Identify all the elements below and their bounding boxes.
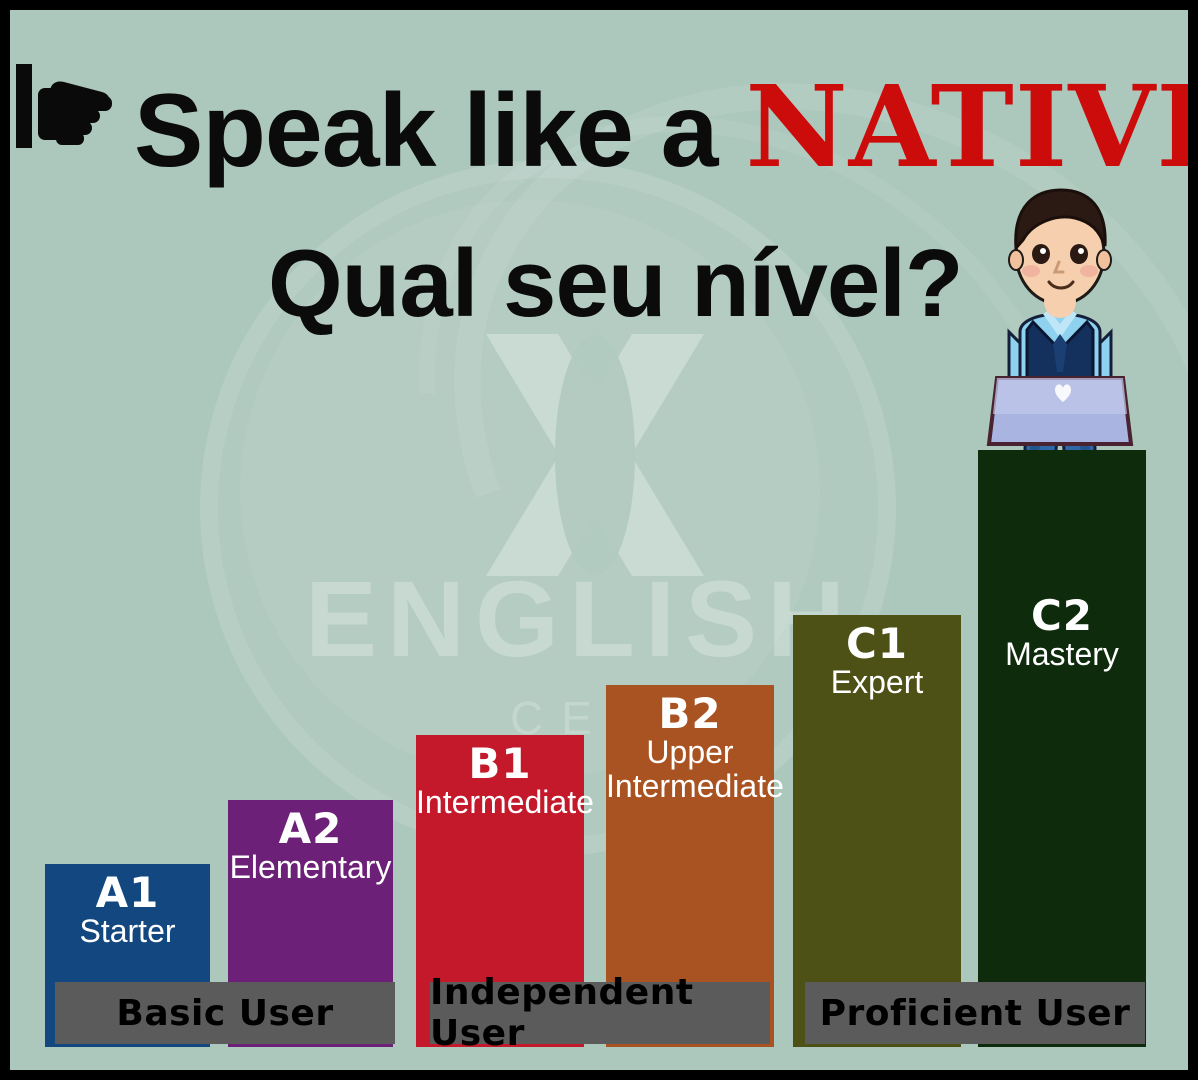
bar-c2-code: C2 xyxy=(978,595,1146,638)
poster-root: ENGLISH CEN Speak like a NATIVE Qual seu… xyxy=(0,0,1198,1080)
group-band-basic-user-label: Basic User xyxy=(116,993,333,1034)
title-text-highlight: NATIVE xyxy=(745,62,1188,193)
bar-a1-name: Starter xyxy=(45,915,210,949)
bar-c1-name: Expert xyxy=(793,666,961,700)
bar-a2-code: A2 xyxy=(228,808,393,851)
watermark-word-english: ENGLISH xyxy=(305,565,855,673)
bar-c2[interactable]: C2 Mastery xyxy=(978,450,1146,1047)
bar-a1-code: A1 xyxy=(45,872,210,915)
title-text-plain: Speak like a xyxy=(134,73,745,189)
group-band-proficient-user[interactable]: Proficient User xyxy=(805,982,1145,1044)
group-band-independent-user-label: Independent User xyxy=(430,972,770,1054)
bar-c1-code: C1 xyxy=(793,623,961,666)
bar-b2-name: Upper Intermediate xyxy=(606,736,774,804)
watermark-x-logo-icon xyxy=(480,330,710,580)
group-band-proficient-user-label: Proficient User xyxy=(820,993,1131,1034)
pointing-hand-right-icon xyxy=(16,58,116,154)
bar-b1-name: Intermediate xyxy=(416,786,584,820)
group-band-independent-user[interactable]: Independent User xyxy=(430,982,770,1044)
page-title-line-2: Qual seu nível? xyxy=(268,236,963,332)
poster-canvas: ENGLISH CEN Speak like a NATIVE Qual seu… xyxy=(10,10,1188,1070)
bar-b1-code: B1 xyxy=(416,743,584,786)
bar-b2-code: B2 xyxy=(606,693,774,736)
bar-c2-name: Mastery xyxy=(978,638,1146,672)
page-title-line-1: Speak like a NATIVE xyxy=(134,72,1188,184)
bar-a2-name: Elementary xyxy=(228,851,393,885)
group-band-basic-user[interactable]: Basic User xyxy=(55,982,395,1044)
